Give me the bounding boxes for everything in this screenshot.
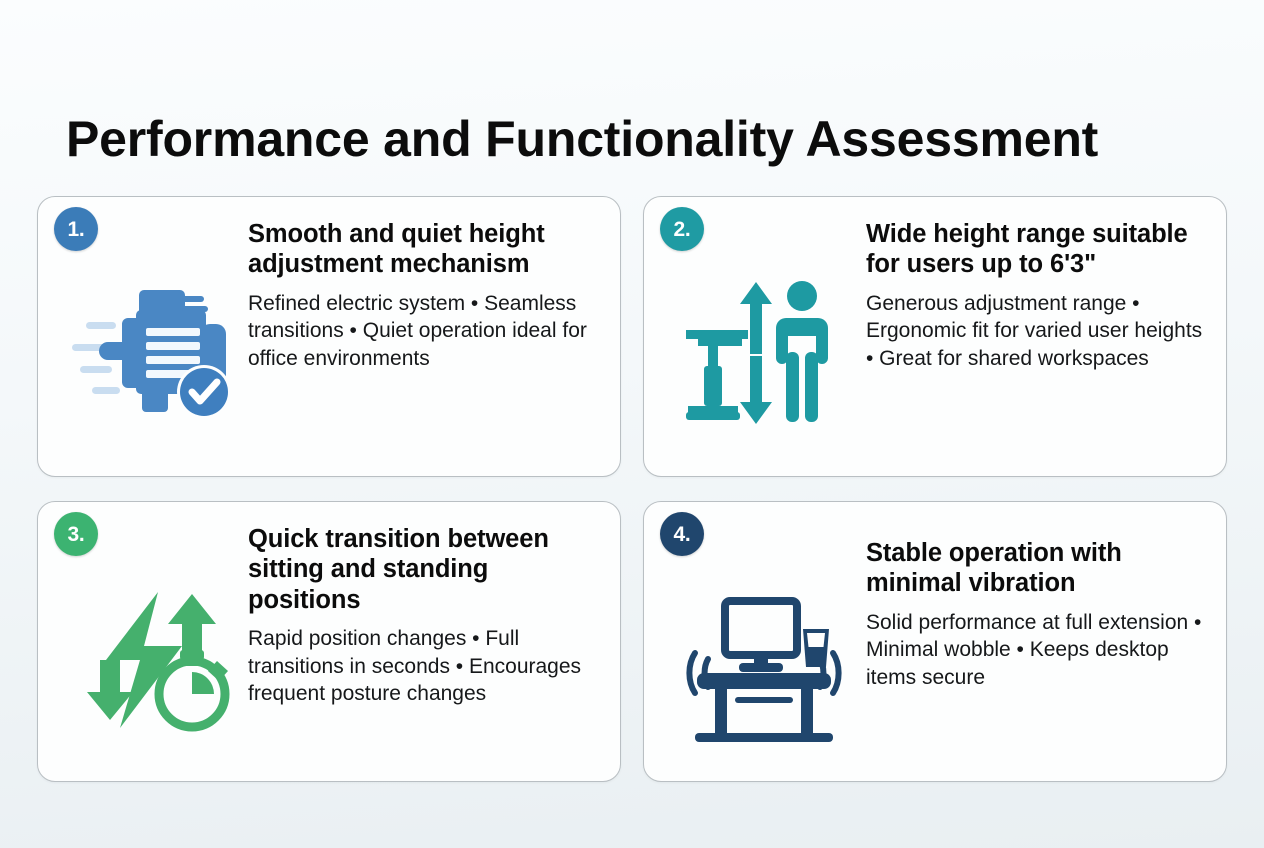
card-number-badge-3: 3. [54, 512, 98, 556]
feature-card-1[interactable]: 1. [37, 196, 621, 477]
card-body-2: Generous adjustment range • Ergonomic fi… [866, 290, 1208, 373]
page-title: Performance and Functionality Assessment [66, 112, 1206, 167]
feature-card-4[interactable]: 4. [643, 501, 1227, 782]
desk-height-person-icon [668, 259, 860, 449]
card-heading-3: Quick transition between sitting and sta… [248, 524, 602, 615]
infographic-page: Performance and Functionality Assessment… [0, 0, 1264, 848]
card-body-1: Refined electric system • Seamless trans… [248, 290, 602, 373]
card-body-4: Solid performance at full extension • Mi… [866, 609, 1208, 692]
card-heading-1: Smooth and quiet height adjustment mecha… [248, 219, 602, 280]
card-heading-4: Stable operation with minimal vibration [866, 538, 1208, 599]
feature-card-grid: 1. [37, 196, 1227, 782]
card-text-column-3: Quick transition between sitting and sta… [248, 524, 602, 708]
card-heading-2: Wide height range suitable for users up … [866, 219, 1208, 280]
desk-monitor-vibration-icon [668, 572, 860, 762]
card-number-badge-1: 1. [54, 207, 98, 251]
feature-card-2[interactable]: 2. [643, 196, 1227, 477]
card-body-3: Rapid position changes • Full transition… [248, 625, 602, 708]
card-number-badge-2: 2. [660, 207, 704, 251]
card-text-column-4: Stable operation with minimal vibration … [866, 538, 1208, 692]
feature-card-3[interactable]: 3. [37, 501, 621, 782]
card-text-column-1: Smooth and quiet height adjustment mecha… [248, 219, 602, 373]
card-text-column-2: Wide height range suitable for users up … [866, 219, 1208, 373]
electric-motor-check-icon [62, 259, 254, 449]
card-number-badge-4: 4. [660, 512, 704, 556]
lightning-stopwatch-arrows-icon [72, 568, 264, 758]
